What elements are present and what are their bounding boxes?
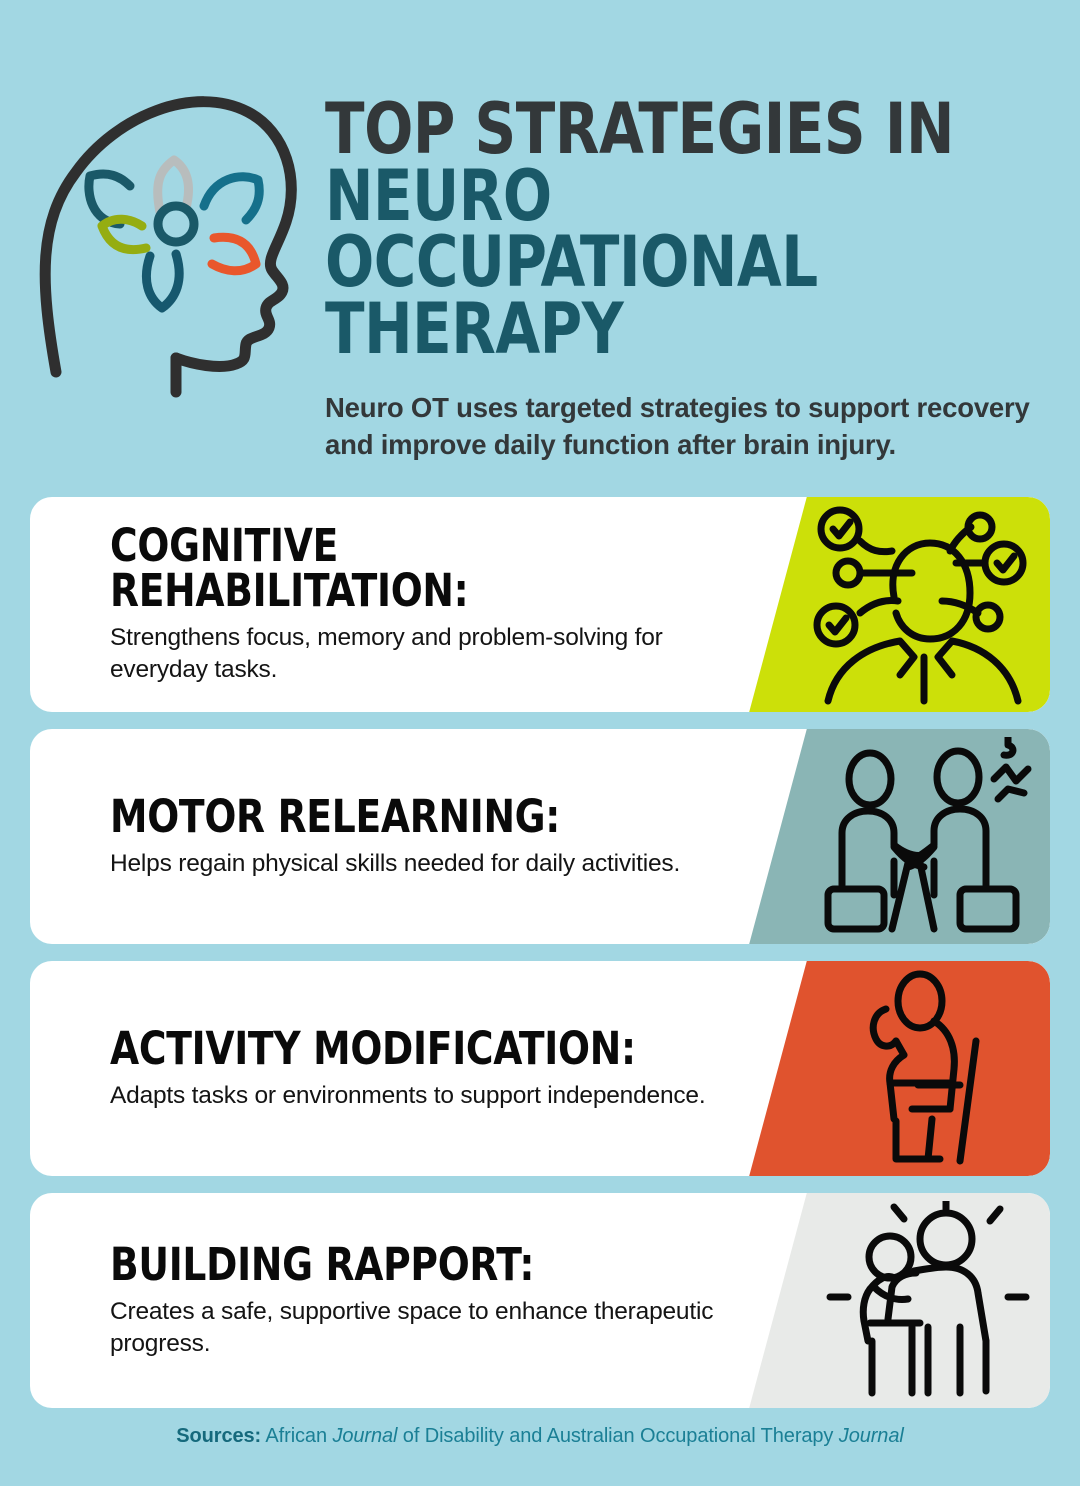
card-text: ACTIVITY MODIFICATION: Adapts tasks or e… (110, 961, 750, 1176)
sources-italic-a: Journal (332, 1425, 397, 1447)
person-sitting-on-chair-icon (808, 969, 1038, 1169)
strategy-card[interactable]: COGNITIVE REHABILITATION: Strengthens fo… (30, 497, 1050, 712)
card-title: MOTOR RELEARNING: (110, 794, 705, 839)
header: TOP STRATEGIES IN NEURO OCCUPATIONAL THE… (0, 0, 1080, 470)
sources-italic-b: Journal (839, 1425, 904, 1447)
strategy-card[interactable]: BUILDING RAPPORT: Creates a safe, suppor… (30, 1193, 1050, 1408)
card-description: Helps regain physical skills needed for … (110, 848, 750, 880)
sources-footer: Sources: African Journal of Disability a… (0, 1425, 1080, 1448)
person-network-checkmarks-icon (808, 505, 1038, 705)
card-text: MOTOR RELEARNING: Helps regain physical … (110, 729, 750, 944)
card-description: Strengthens focus, memory and problem-so… (110, 622, 750, 686)
strategy-card[interactable]: ACTIVITY MODIFICATION: Adapts tasks or e… (30, 961, 1050, 1176)
page-title-part2: NEURO OCCUPATIONAL THERAPY (325, 155, 818, 370)
head-brain-pinwheel-icon (34, 72, 314, 402)
sources-text-b: of Disability and Australian Occupationa… (397, 1425, 838, 1447)
two-people-embracing-icon (808, 1201, 1038, 1401)
two-people-seated-therapy-icon (808, 737, 1038, 937)
strategy-card[interactable]: MOTOR RELEARNING: Helps regain physical … (30, 729, 1050, 944)
card-title: ACTIVITY MODIFICATION: (110, 1026, 705, 1071)
card-description: Creates a safe, supportive space to enha… (110, 1296, 750, 1360)
card-text: COGNITIVE REHABILITATION: Strengthens fo… (110, 497, 750, 712)
title-block: TOP STRATEGIES IN NEURO OCCUPATIONAL THE… (325, 96, 1045, 464)
sources-text-a: African (261, 1425, 332, 1447)
strategy-card-list: COGNITIVE REHABILITATION: Strengthens fo… (0, 497, 1080, 1425)
card-text: BUILDING RAPPORT: Creates a safe, suppor… (110, 1193, 750, 1408)
page-title: TOP STRATEGIES IN NEURO OCCUPATIONAL THE… (325, 96, 987, 362)
page-subtitle: Neuro OT uses targeted strategies to sup… (325, 390, 1040, 464)
card-description: Adapts tasks or environments to support … (110, 1080, 750, 1112)
card-title: BUILDING RAPPORT: (110, 1242, 705, 1287)
card-title: COGNITIVE REHABILITATION: (110, 523, 705, 613)
sources-label: Sources: (176, 1425, 261, 1447)
